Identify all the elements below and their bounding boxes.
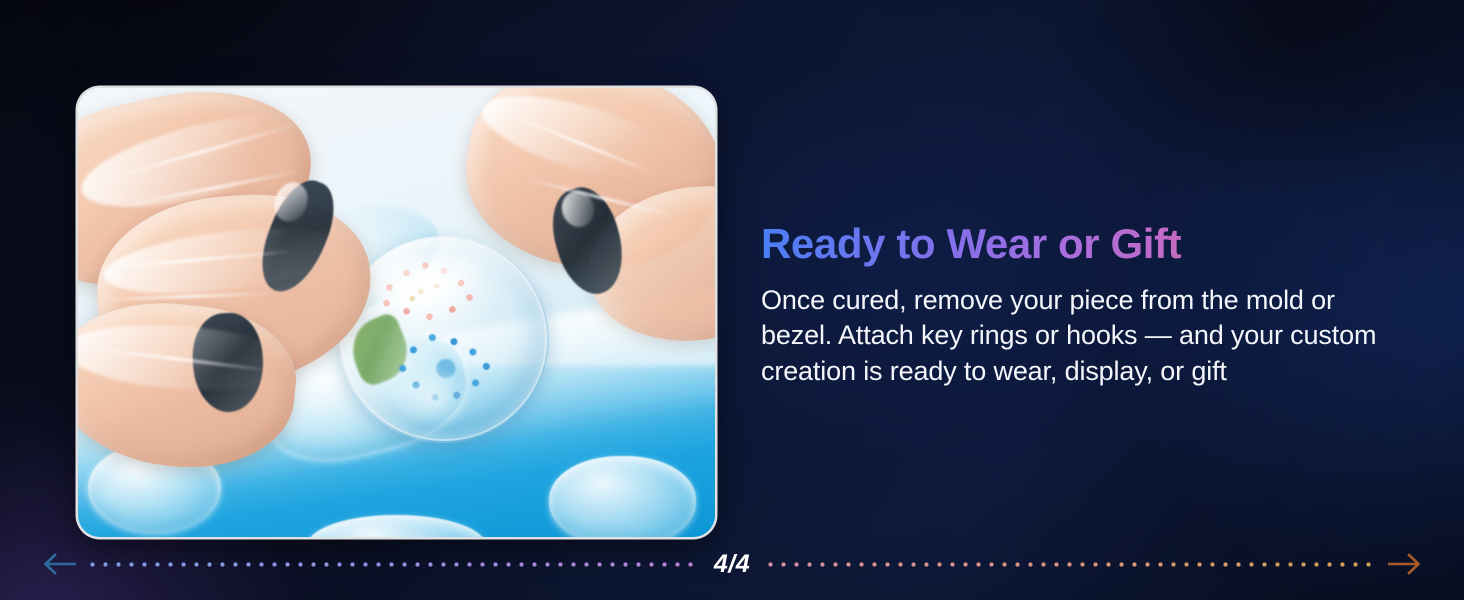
arrow-right-icon [1388, 552, 1422, 576]
photo-soft-light [78, 88, 715, 537]
prev-slide-button[interactable] [42, 551, 76, 577]
slide-counter: 4/4 [696, 550, 768, 579]
next-slide-button[interactable] [1388, 551, 1422, 577]
resin-photo-card [78, 88, 715, 537]
body-text: Once cured, remove your piece from the m… [761, 283, 1393, 391]
arrow-left-icon [42, 552, 76, 576]
progress-dots-left [90, 562, 696, 567]
slide-container: Ready to Wear or Gift Once cured, remove… [0, 0, 1464, 600]
text-column: Ready to Wear or Gift Once cured, remove… [761, 222, 1401, 390]
pagination-track: 4/4 [90, 550, 1374, 579]
pagination-bar: 4/4 [0, 542, 1464, 586]
page-title: Ready to Wear or Gift [761, 222, 1401, 267]
progress-dots-right [768, 562, 1374, 567]
resin-photo [78, 88, 715, 537]
